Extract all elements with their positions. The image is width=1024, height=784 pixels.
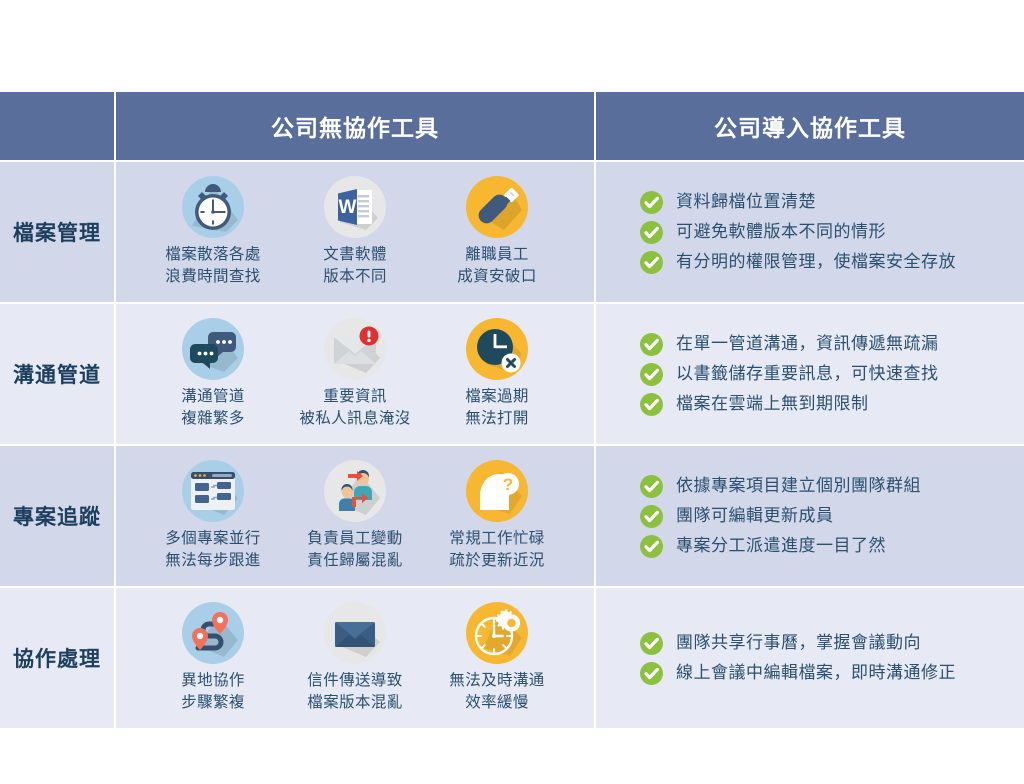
pain-point-item: 信件傳送導致 檔案版本混亂 xyxy=(284,602,426,714)
pain-point-caption: 溝通管道 複雜繁多 xyxy=(142,386,284,430)
benefit-list: 在單一管道溝通，資訊傳遞無疏漏以書籤儲存重要訊息，可快速查找檔案在雲端上無到期限… xyxy=(596,314,1024,435)
benefit-text: 以書籤儲存重要訊息，可快速查找 xyxy=(676,364,939,384)
with-tools-cell: 資料歸檔位置清楚可避免軟體版本不同的情形有分明的權限管理，使檔案安全存放 xyxy=(595,161,1024,303)
pain-point-item: ?常規工作忙碌 疏於更新近況 xyxy=(426,460,568,572)
benefit-list: 依據專案項目建立個別團隊群組團隊可編輯更新成員專案分工派遣進度一目了然 xyxy=(596,456,1024,577)
kanban-board-icon xyxy=(182,460,244,522)
pain-point-group: 溝通管道 複雜繁多重要資訊 被私人訊息淹沒檔案過期 無法打開 xyxy=(116,304,594,444)
comparison-infographic: 公司無協作工具 公司導入協作工具 檔案管理檔案散落各處 浪費時間查找W文書軟體 … xyxy=(0,0,1024,784)
benefit-item: 以書籤儲存重要訊息，可快速查找 xyxy=(640,363,1014,386)
benefit-text: 檔案在雲端上無到期限制 xyxy=(676,394,869,414)
table-row: 溝通管道溝通管道 複雜繁多重要資訊 被私人訊息淹沒檔案過期 無法打開在單一管道溝… xyxy=(0,303,1024,445)
pain-point-item: 無法及時溝通 效率緩慢 xyxy=(426,602,568,714)
pain-point-caption: 負責員工變動 責任歸屬混亂 xyxy=(284,528,426,572)
check-circle-icon xyxy=(640,333,663,356)
check-circle-icon xyxy=(640,221,663,244)
check-circle-icon xyxy=(640,191,663,214)
check-circle-icon xyxy=(640,505,663,528)
pain-point-caption: 無法及時溝通 效率緩慢 xyxy=(426,670,568,714)
staff-handover-icon xyxy=(324,460,386,522)
benefit-text: 團隊共享行事曆，掌握會議動向 xyxy=(676,633,921,653)
benefit-list: 資料歸檔位置清楚可避免軟體版本不同的情形有分明的權限管理，使檔案安全存放 xyxy=(596,172,1024,293)
table-row: 專案追蹤多個專案並行 無法每步跟進負責員工變動 責任歸屬混亂?常規工作忙碌 疏於… xyxy=(0,445,1024,587)
pain-point-caption: 重要資訊 被私人訊息淹沒 xyxy=(284,386,426,430)
benefit-item: 團隊共享行事曆，掌握會議動向 xyxy=(640,632,1014,655)
head-question-icon: ? xyxy=(466,460,528,522)
pain-point-item: 檔案散落各處 浪費時間查找 xyxy=(142,176,284,288)
without-tools-cell: 檔案散落各處 浪費時間查找W文書軟體 版本不同離職員工 成資安破口 xyxy=(115,161,595,303)
table-row: 協作處理異地協作 步驟繁複信件傳送導致 檔案版本混亂無法及時溝通 效率緩慢團隊共… xyxy=(0,587,1024,728)
row-label-1: 檔案管理 xyxy=(0,161,115,303)
pain-point-item: W文書軟體 版本不同 xyxy=(284,176,426,288)
benefit-item: 線上會議中編輯檔案，即時溝通修正 xyxy=(640,662,1014,685)
svg-text:?: ? xyxy=(503,475,513,494)
benefit-text: 在單一管道溝通，資訊傳遞無疏漏 xyxy=(676,334,939,354)
word-document-icon: W xyxy=(324,176,386,238)
check-circle-icon xyxy=(640,662,663,685)
header-with-tools: 公司導入協作工具 xyxy=(595,91,1024,161)
pain-point-item: 異地協作 步驟繁複 xyxy=(142,602,284,714)
benefit-item: 檔案在雲端上無到期限制 xyxy=(640,393,1014,416)
route-pins-icon xyxy=(182,602,244,664)
check-circle-icon xyxy=(640,632,663,655)
benefit-text: 線上會議中編輯檔案，即時溝通修正 xyxy=(676,663,956,683)
clock-gear-icon xyxy=(466,602,528,664)
pain-point-caption: 文書軟體 版本不同 xyxy=(284,244,426,288)
envelope-icon xyxy=(324,602,386,664)
check-circle-icon xyxy=(640,393,663,416)
stopwatch-icon xyxy=(182,176,244,238)
benefit-text: 專案分工派遣進度一目了然 xyxy=(676,536,886,556)
benefit-text: 團隊可編輯更新成員 xyxy=(676,506,834,526)
benefit-text: 資料歸檔位置清楚 xyxy=(676,192,816,212)
pain-point-item: 重要資訊 被私人訊息淹沒 xyxy=(284,318,426,430)
benefit-item: 專案分工派遣進度一目了然 xyxy=(640,535,1014,558)
pain-point-item: 負責員工變動 責任歸屬混亂 xyxy=(284,460,426,572)
pain-point-item: 多個專案並行 無法每步跟進 xyxy=(142,460,284,572)
pain-point-group: 檔案散落各處 浪費時間查找W文書軟體 版本不同離職員工 成資安破口 xyxy=(116,162,594,302)
pain-point-group: 異地協作 步驟繁複信件傳送導致 檔案版本混亂無法及時溝通 效率緩慢 xyxy=(116,588,594,728)
benefit-item: 在單一管道溝通，資訊傳遞無疏漏 xyxy=(640,333,1014,356)
row-label-3: 專案追蹤 xyxy=(0,445,115,587)
benefit-item: 依據專案項目建立個別團隊群組 xyxy=(640,475,1014,498)
pain-point-caption: 離職員工 成資安破口 xyxy=(426,244,568,288)
usb-drive-icon xyxy=(466,176,528,238)
pain-point-caption: 檔案散落各處 浪費時間查找 xyxy=(142,244,284,288)
pain-point-item: 溝通管道 複雜繁多 xyxy=(142,318,284,430)
pain-point-group: 多個專案並行 無法每步跟進負責員工變動 責任歸屬混亂?常規工作忙碌 疏於更新近況 xyxy=(116,446,594,586)
pain-point-caption: 多個專案並行 無法每步跟進 xyxy=(142,528,284,572)
without-tools-cell: 溝通管道 複雜繁多重要資訊 被私人訊息淹沒檔案過期 無法打開 xyxy=(115,303,595,445)
with-tools-cell: 團隊共享行事曆，掌握會議動向線上會議中編輯檔案，即時溝通修正 xyxy=(595,587,1024,728)
check-circle-icon xyxy=(640,535,663,558)
header-row: 公司無協作工具 公司導入協作工具 xyxy=(0,91,1024,161)
chat-bubbles-icon xyxy=(182,318,244,380)
pain-point-item: 離職員工 成資安破口 xyxy=(426,176,568,288)
benefit-text: 有分明的權限管理，使檔案安全存放 xyxy=(676,252,956,272)
check-circle-icon xyxy=(640,251,663,274)
pain-point-caption: 異地協作 步驟繁複 xyxy=(142,670,284,714)
clock-expired-icon xyxy=(466,318,528,380)
without-tools-cell: 多個專案並行 無法每步跟進負責員工變動 責任歸屬混亂?常規工作忙碌 疏於更新近況 xyxy=(115,445,595,587)
pain-point-caption: 信件傳送導致 檔案版本混亂 xyxy=(284,670,426,714)
envelope-alert-icon xyxy=(324,318,386,380)
table-body: 檔案管理檔案散落各處 浪費時間查找W文書軟體 版本不同離職員工 成資安破口資料歸… xyxy=(0,161,1024,728)
benefit-list: 團隊共享行事曆，掌握會議動向線上會議中編輯檔案，即時溝通修正 xyxy=(596,613,1024,704)
without-tools-cell: 異地協作 步驟繁複信件傳送導致 檔案版本混亂無法及時溝通 效率緩慢 xyxy=(115,587,595,728)
row-label-4: 協作處理 xyxy=(0,587,115,728)
check-circle-icon xyxy=(640,475,663,498)
pain-point-caption: 常規工作忙碌 疏於更新近況 xyxy=(426,528,568,572)
check-circle-icon xyxy=(640,363,663,386)
header-without-tools: 公司無協作工具 xyxy=(115,91,595,161)
benefit-item: 有分明的權限管理，使檔案安全存放 xyxy=(640,251,1014,274)
benefit-item: 資料歸檔位置清楚 xyxy=(640,191,1014,214)
table-header: 公司無協作工具 公司導入協作工具 xyxy=(0,91,1024,161)
header-corner-cell xyxy=(0,91,115,161)
with-tools-cell: 在單一管道溝通，資訊傳遞無疏漏以書籤儲存重要訊息，可快速查找檔案在雲端上無到期限… xyxy=(595,303,1024,445)
row-label-2: 溝通管道 xyxy=(0,303,115,445)
benefit-item: 團隊可編輯更新成員 xyxy=(640,505,1014,528)
pain-point-item: 檔案過期 無法打開 xyxy=(426,318,568,430)
table-row: 檔案管理檔案散落各處 浪費時間查找W文書軟體 版本不同離職員工 成資安破口資料歸… xyxy=(0,161,1024,303)
benefit-text: 可避免軟體版本不同的情形 xyxy=(676,222,886,242)
comparison-table: 公司無協作工具 公司導入協作工具 檔案管理檔案散落各處 浪費時間查找W文書軟體 … xyxy=(0,90,1024,728)
benefit-text: 依據專案項目建立個別團隊群組 xyxy=(676,476,921,496)
pain-point-caption: 檔案過期 無法打開 xyxy=(426,386,568,430)
benefit-item: 可避免軟體版本不同的情形 xyxy=(640,221,1014,244)
with-tools-cell: 依據專案項目建立個別團隊群組團隊可編輯更新成員專案分工派遣進度一目了然 xyxy=(595,445,1024,587)
svg-text:W: W xyxy=(339,197,357,218)
